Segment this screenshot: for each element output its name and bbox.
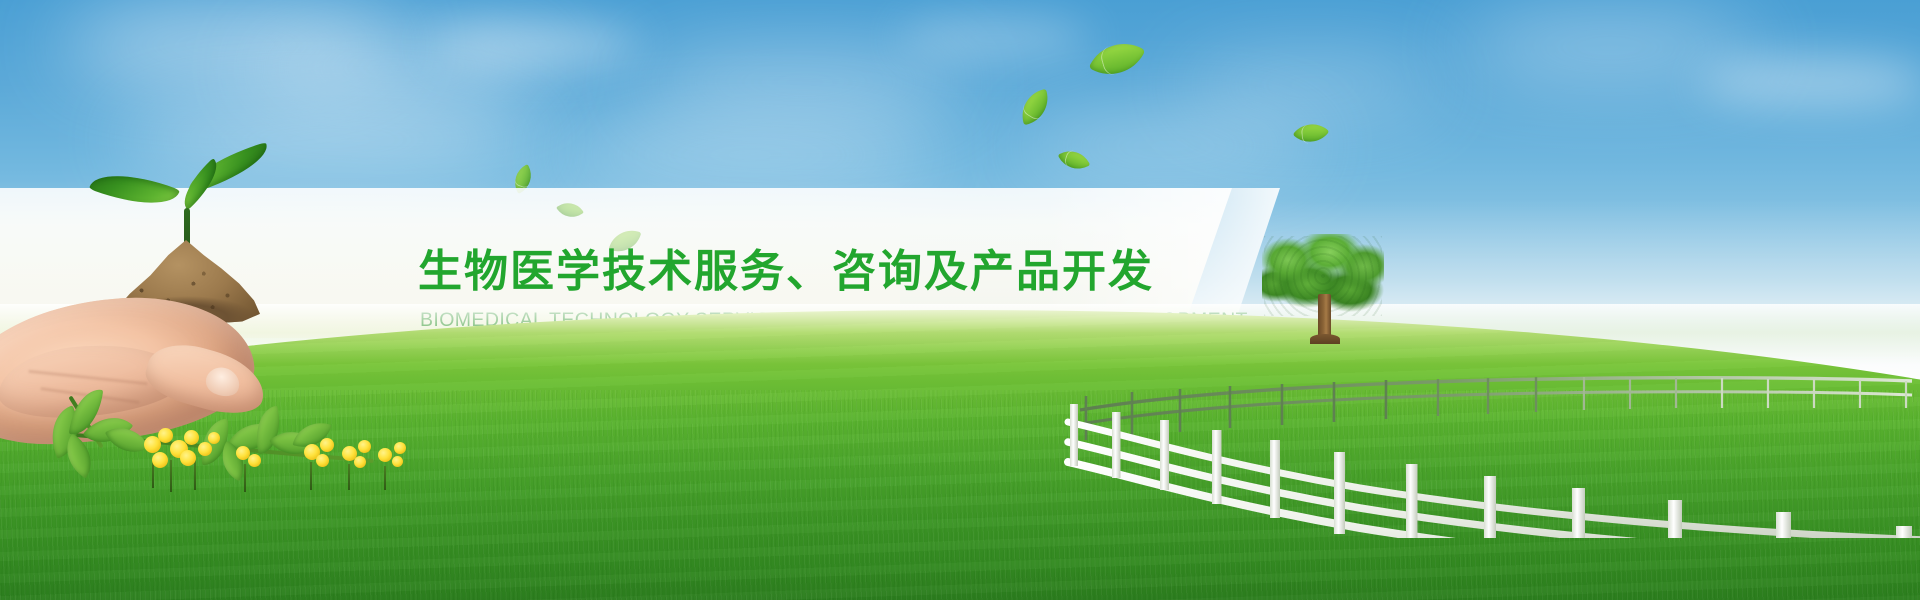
yellow-flower <box>184 430 199 445</box>
cloud-shape <box>640 52 970 112</box>
fence-far-run <box>1080 377 1912 440</box>
flower-stalk <box>348 464 350 490</box>
yellow-flower <box>358 440 371 453</box>
fence-near-run <box>1068 404 1920 538</box>
cloud-shape <box>1180 60 1440 110</box>
yellow-flower <box>316 454 329 467</box>
yellow-flower <box>378 448 392 462</box>
flower-stalk <box>384 466 386 490</box>
cloud-shape <box>1460 18 1760 76</box>
cloud-shape <box>900 18 1090 58</box>
yellow-flower <box>198 442 212 456</box>
yellow-flower <box>208 432 220 444</box>
cloud-shape <box>560 128 940 182</box>
flower-cluster-graphic <box>48 380 428 510</box>
yellow-flower <box>248 454 261 467</box>
flower-stalk <box>194 460 196 490</box>
yellow-flower <box>394 442 406 454</box>
hero-banner: 生物医学技术服务、咨询及产品开发 BIOMEDICAL TECHNOLOGY S… <box>0 0 1920 600</box>
yellow-flower <box>320 438 334 452</box>
yellow-flower <box>158 428 173 443</box>
page-title: 生物医学技术服务、咨询及产品开发 <box>418 248 1178 296</box>
yellow-flower <box>152 452 168 468</box>
fence-graphic <box>1060 318 1920 538</box>
yellow-flower <box>392 456 403 467</box>
yellow-flower <box>354 456 366 468</box>
flower-stalk <box>310 462 312 490</box>
cloud-shape <box>430 22 640 68</box>
yellow-flower <box>180 450 196 466</box>
cloud-shape <box>1700 58 1920 106</box>
sprout-leaf <box>89 161 180 219</box>
flower-stalk <box>170 460 172 492</box>
flower-stalk <box>244 464 246 492</box>
